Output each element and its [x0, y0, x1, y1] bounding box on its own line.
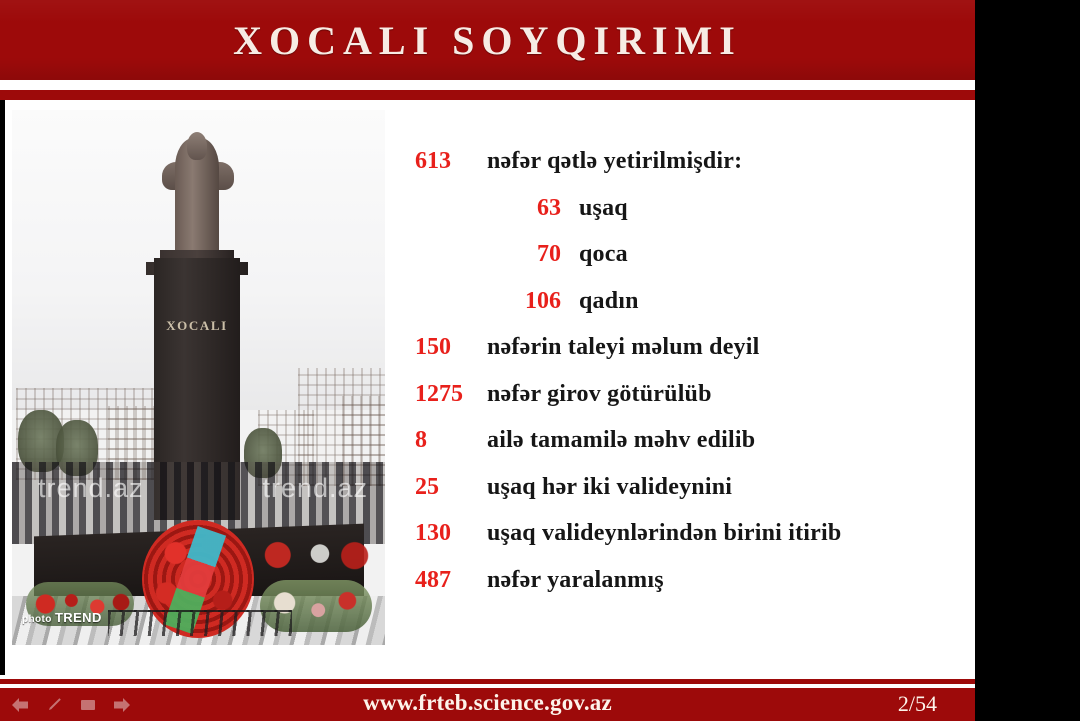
slide-page-indicator: 2/54: [898, 691, 937, 717]
stat-number: 106: [515, 288, 561, 315]
watermark-brand-name: TREND: [55, 610, 102, 625]
stat-label: nəfər yaralanmış: [477, 567, 664, 594]
photo-railing: [108, 610, 292, 636]
stat-line: 63 uşaq: [415, 195, 960, 242]
stat-label: uşaq: [561, 195, 628, 222]
stat-label: uşaq valideynlərindən birini itirib: [477, 520, 841, 547]
casualty-statistics-list: 613 nəfər qətlə yetirilmişdir: 63 uşaq 7…: [415, 148, 960, 613]
stat-label: qoca: [561, 241, 628, 268]
stat-line: 130 uşaq valideynlərindən birini itirib: [415, 520, 960, 567]
banner-accent-stripe: [0, 90, 975, 100]
page-title: XOCALI SOYQIRIMI: [233, 17, 742, 64]
stat-number: 70: [515, 241, 561, 268]
stat-line: 106 qadın: [415, 288, 960, 335]
photo-flowers-back: [248, 538, 372, 572]
stat-number: 63: [515, 195, 561, 222]
slide-left-border: [0, 100, 5, 675]
stat-number: 1275: [415, 381, 477, 408]
stat-line: 70 qoca: [415, 241, 960, 288]
stat-label: nəfər girov götürülüb: [477, 381, 712, 408]
photo-watermark-trend: photo TREND: [22, 610, 102, 625]
banner-white-gap: [0, 80, 975, 90]
slide-title-banner: XOCALI SOYQIRIMI: [0, 0, 975, 80]
stat-label: nəfərin taleyi məlum deyil: [477, 334, 759, 361]
photo-statue-head: [187, 132, 207, 160]
stat-line: 8 ailə tamamilə məhv edilib: [415, 427, 960, 474]
stat-number: 613: [415, 148, 477, 175]
stat-label: ailə tamamilə məhv edilib: [477, 427, 755, 454]
xocali-memorial-photo: XOCALI trend.az trend.az photo TREND: [12, 110, 385, 645]
stat-number: 487: [415, 567, 477, 594]
stat-line: 150 nəfərin taleyi məlum deyil: [415, 334, 960, 381]
stat-line: 613 nəfər qətlə yetirilmişdir:: [415, 148, 960, 195]
letterbox-right: [975, 0, 1080, 721]
presentation-slide: XOCALI SOYQIRIMI XOCALI tren: [0, 0, 1080, 721]
watermark-brand-prefix: photo: [22, 614, 55, 625]
stat-line: 25 uşaq hər iki valideynini: [415, 474, 960, 521]
stat-number: 8: [415, 427, 477, 454]
stat-label: uşaq hər iki valideynini: [477, 474, 732, 501]
slide-footer-bar: www.frteb.science.gov.az 2/54: [0, 688, 975, 721]
stat-label: nəfər qətlə yetirilmişdir:: [477, 148, 742, 175]
pedestal-inscription: XOCALI: [154, 318, 240, 334]
stat-line: 487 nəfər yaralanmış: [415, 567, 960, 614]
stat-number: 150: [415, 334, 477, 361]
stat-line: 1275 nəfər girov götürülüb: [415, 381, 960, 428]
stat-label: qadın: [561, 288, 639, 315]
stat-number: 130: [415, 520, 477, 547]
footer-website-url[interactable]: www.frteb.science.gov.az: [0, 690, 975, 716]
photo-canvas: XOCALI trend.az trend.az photo TREND: [12, 110, 385, 645]
stat-number: 25: [415, 474, 477, 501]
